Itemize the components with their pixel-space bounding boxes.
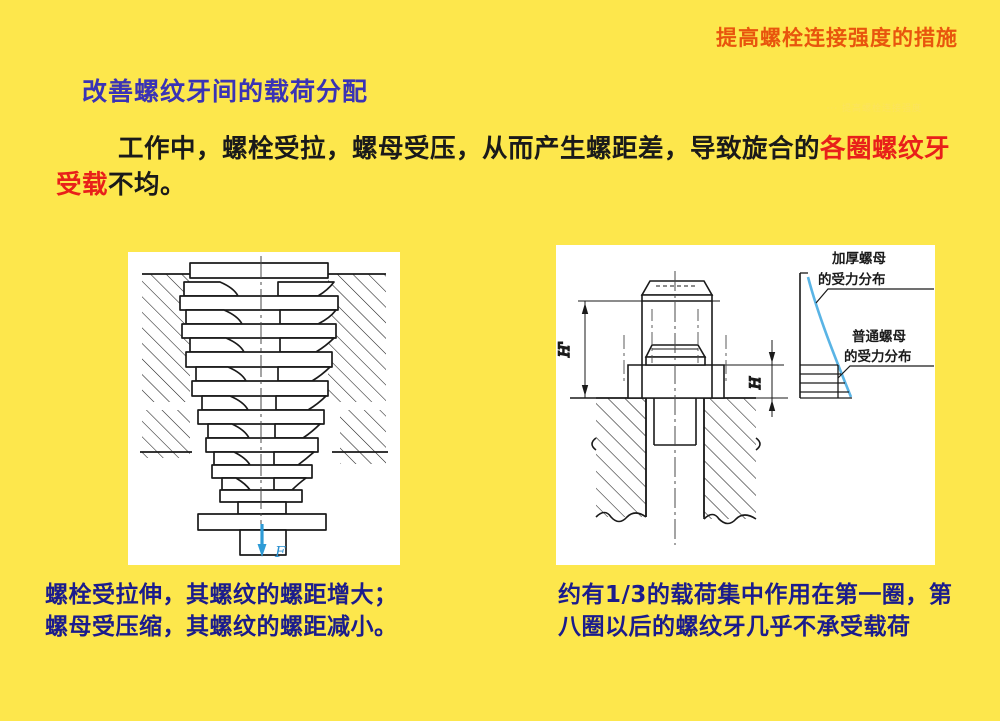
- caption-left-line1: 螺栓受拉伸，其螺纹的螺距增大；: [45, 580, 515, 612]
- figure-bolt-thread-pitch-deformation: F: [128, 252, 400, 565]
- bolt-top-flange: [190, 263, 328, 278]
- force-label: F: [274, 543, 286, 561]
- annotation-ordinary-nut: 普通螺母 的受力分布: [838, 328, 934, 378]
- watermark-text: ··· 提高螺栓连接强度: [827, 101, 922, 114]
- body-text-part1: 工作中，螺栓受拉，螺母受压，从而产生螺距差，导致旋合的: [118, 134, 820, 164]
- thickened-nut-curve: [808, 277, 851, 397]
- dimension-h-prime-label: H': [557, 341, 573, 358]
- annotation-thickened-nut-line2: 的受力分布: [818, 271, 886, 288]
- body-text-part2: 不均。: [108, 170, 186, 200]
- slide-subtitle: 改善螺纹牙间的载荷分配: [82, 72, 368, 108]
- host-plate-hatching: [570, 398, 760, 524]
- caption-left-line2: 螺母受压缩，其螺纹的螺距减小。: [45, 612, 515, 644]
- annotation-thickened-nut: 加厚螺母 的受力分布: [816, 250, 934, 303]
- nut-load-distribution-drawing: H' H: [556, 245, 935, 565]
- load-distribution-plot: 加厚螺母 的受力分布 普通螺母 的受力分布: [800, 250, 934, 398]
- figure-nut-load-distribution: H' H: [556, 245, 935, 565]
- annotation-ordinary-nut-line2: 的受力分布: [844, 348, 912, 365]
- caption-right: 约有1/3的载荷集中作用在第一圈，第八圈以后的螺纹牙几乎不承受载荷: [558, 580, 958, 643]
- annotation-thickened-nut-line1: 加厚螺母: [831, 250, 886, 267]
- bolt-thread-deformation-drawing: F: [128, 252, 400, 565]
- body-paragraph: 工作中，螺栓受拉，螺母受压，从而产生螺距差，导致旋合的各圈螺纹牙受载不均。: [56, 131, 961, 203]
- slide-header-title: 提高螺栓连接强度的措施: [716, 22, 958, 52]
- slide-canvas: 提高螺栓连接强度的措施 ··· 提高螺栓连接强度 改善螺纹牙间的载荷分配 工作中…: [0, 0, 1000, 721]
- caption-left: 螺栓受拉伸，其螺纹的螺距增大； 螺母受压缩，其螺纹的螺距减小。: [45, 580, 515, 643]
- thread-turn-group: [180, 282, 338, 502]
- dimension-h-label: H: [748, 376, 764, 390]
- annotation-ordinary-nut-line1: 普通螺母: [852, 328, 906, 345]
